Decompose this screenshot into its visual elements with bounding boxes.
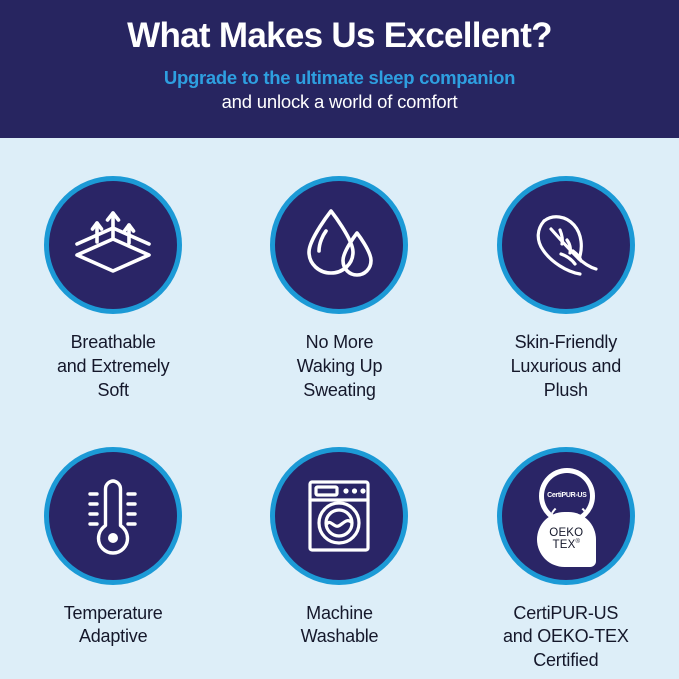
infographic-page: What Makes Us Excellent? Upgrade to the … [0,0,679,679]
feature-label-no-sweating: No More Waking Up Sweating [297,331,383,402]
feature-card-temperature: Temperature Adaptive [0,409,226,679]
certipur-us-label: CertiPUR-US [547,492,586,499]
feature-label-line3: Plush [511,379,621,403]
badge-circle-breathable [44,176,182,314]
breathable-layers-icon [67,199,159,291]
feature-label-line1: No More [297,331,383,355]
thermometer-icon [69,472,157,560]
feature-label-line2: and OEKO-TEX [503,625,629,649]
feature-label-line1: CertiPUR-US [503,602,629,626]
feature-card-skin-friendly: Skin-Friendly Luxurious and Plush [453,138,679,409]
oeko-tex-seal-icon: OEKO TEX® [537,512,596,567]
badge-circle-machine-washable [270,447,408,585]
feature-card-machine-washable: Machine Washable [226,409,452,679]
badge-circle-skin-friendly [497,176,635,314]
header-subtitle-plain: and unlock a world of comfort [222,91,458,112]
feature-label-skin-friendly: Skin-Friendly Luxurious and Plush [511,331,621,402]
feature-label-line3: Soft [57,379,169,403]
feature-label-line2: Adaptive [64,625,163,649]
washing-machine-icon [296,473,382,559]
feature-label-line2: and Extremely [57,355,169,379]
page-title: What Makes Us Excellent? [127,17,552,56]
feature-label-line1: Temperature [64,602,163,626]
feature-card-certifications: CertiPUR-US OEKO TEX® CertiPUR-US and OE… [453,409,679,679]
header-banner: What Makes Us Excellent? Upgrade to the … [0,0,679,138]
water-droplets-icon [295,201,383,289]
feature-label-line3: Certified [503,649,629,673]
certification-badges-icon: CertiPUR-US OEKO TEX® [523,468,609,564]
feature-grid: Breathable and Extremely Soft No More Wa… [0,138,679,679]
badge-circle-certifications: CertiPUR-US OEKO TEX® [497,447,635,585]
feature-label-line3: Sweating [297,379,383,403]
header-subtitle-highlight: Upgrade to the ultimate sleep companion [164,67,515,88]
oeko-tex-line2: TEX® [553,539,581,551]
feather-icon [520,199,612,291]
feature-card-breathable: Breathable and Extremely Soft [0,138,226,409]
feature-label-line2: Waking Up [297,355,383,379]
feature-label-line2: Washable [301,625,379,649]
feature-label-line2: Luxurious and [511,355,621,379]
feature-card-no-sweating: No More Waking Up Sweating [226,138,452,409]
feature-label-line1: Skin-Friendly [511,331,621,355]
badge-circle-no-sweating [270,176,408,314]
feature-label-line1: Breathable [57,331,169,355]
oeko-tex-line1: OEKO [549,527,583,539]
badge-circle-temperature [44,447,182,585]
feature-label-breathable: Breathable and Extremely Soft [57,331,169,402]
feature-label-machine-washable: Machine Washable [301,602,379,650]
feature-label-temperature: Temperature Adaptive [64,602,163,650]
feature-label-certifications: CertiPUR-US and OEKO-TEX Certified [503,602,629,673]
feature-label-line1: Machine [301,602,379,626]
